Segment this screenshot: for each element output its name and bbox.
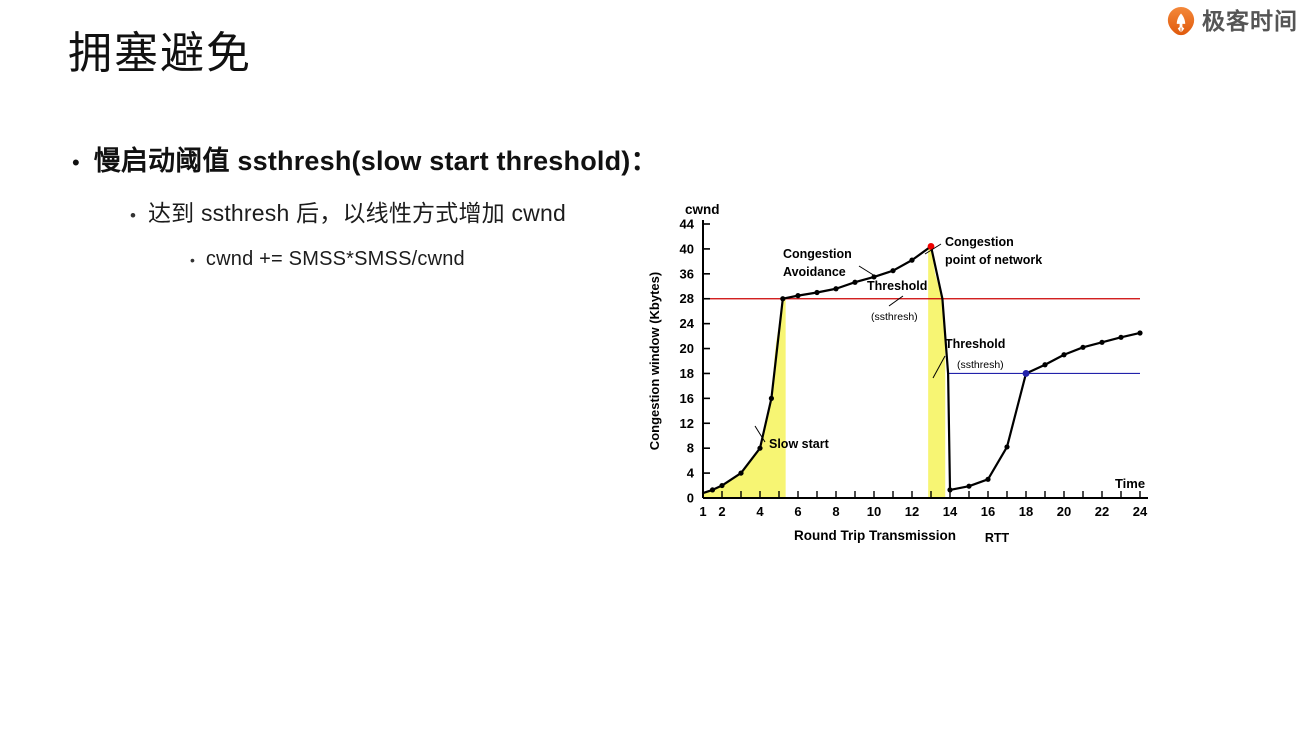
bullet-text: cwnd += SMSS*SMSS/cwnd bbox=[206, 248, 465, 271]
y-tick-label: 4 bbox=[687, 466, 695, 481]
data-point bbox=[814, 290, 819, 295]
x-tick-label: 4 bbox=[756, 504, 764, 519]
data-point bbox=[719, 483, 724, 488]
data-point bbox=[1080, 345, 1085, 350]
x-tick-label: 18 bbox=[1019, 504, 1033, 519]
x-tick-label: 6 bbox=[794, 504, 801, 519]
bullet-text: 慢启动阈值 ssthresh(slow start threshold)： bbox=[94, 139, 658, 178]
x-tick-label: 8 bbox=[832, 504, 839, 519]
y-tick-label: 8 bbox=[687, 441, 694, 456]
y-tick-label: 18 bbox=[680, 366, 694, 381]
y-tick-label: 24 bbox=[680, 316, 695, 331]
bullet-level-1: • 慢启动阈值 ssthresh(slow start threshold)： bbox=[72, 139, 658, 178]
y-tick-label: 12 bbox=[680, 416, 694, 431]
data-point bbox=[1137, 330, 1142, 335]
y-tick-label: 0 bbox=[687, 491, 694, 506]
data-point bbox=[909, 258, 914, 263]
data-point bbox=[852, 280, 857, 285]
y-tick-label: 44 bbox=[680, 217, 695, 232]
x-tick-label: 10 bbox=[867, 504, 881, 519]
x-tick-label: 1 bbox=[699, 504, 706, 519]
data-point bbox=[769, 396, 774, 401]
annotation-threshold-1-sub: (ssthresh) bbox=[871, 311, 918, 323]
data-point bbox=[780, 296, 785, 301]
annotation-threshold-2: Threshold bbox=[945, 337, 1005, 351]
congestion-window-chart: 048121618202428364044 124681012141618202… bbox=[645, 196, 1157, 546]
y-tick-label: 36 bbox=[680, 266, 694, 281]
annotation-congestion-avoidance-line2: Avoidance bbox=[783, 265, 846, 279]
data-point bbox=[947, 487, 952, 492]
y-tick-label: 40 bbox=[680, 241, 694, 256]
data-point bbox=[985, 477, 990, 482]
data-point bbox=[1042, 362, 1047, 367]
data-point bbox=[710, 487, 715, 492]
data-point bbox=[1004, 444, 1009, 449]
annotation-congestion-point-line2: point of network bbox=[945, 253, 1042, 267]
x-tick-label: 14 bbox=[943, 504, 958, 519]
x-tick-label: 24 bbox=[1133, 504, 1148, 519]
annotation-threshold-1: Threshold bbox=[867, 279, 927, 293]
annotation-congestion-point-line1: Congestion bbox=[945, 235, 1014, 249]
page-title: 拥塞避免 bbox=[68, 28, 252, 81]
x-tick-label: 12 bbox=[905, 504, 919, 519]
bullet-text: 达到 ssthresh 后，以线性方式增加 cwnd bbox=[148, 194, 566, 228]
y-tick-label: 28 bbox=[680, 291, 694, 306]
geektime-rocket-icon bbox=[1166, 6, 1196, 36]
data-point bbox=[833, 286, 838, 291]
x-axis-label: Round Trip Transmission bbox=[794, 528, 956, 543]
chart-corner-label: cwnd bbox=[685, 202, 720, 217]
x-tick-label: 20 bbox=[1057, 504, 1071, 519]
data-point bbox=[1118, 335, 1123, 340]
bullet-marker: • bbox=[190, 253, 195, 267]
data-point bbox=[966, 484, 971, 489]
data-point bbox=[890, 268, 895, 273]
brand-logo: 极客时间 bbox=[1166, 6, 1298, 36]
annotation-congestion-avoidance-line1: Congestion bbox=[783, 247, 852, 261]
bullet-level-2: • 达到 ssthresh 后，以线性方式增加 cwnd bbox=[130, 194, 566, 228]
data-point bbox=[1099, 340, 1104, 345]
data-point bbox=[757, 446, 762, 451]
data-point bbox=[795, 293, 800, 298]
x-tick-label: 2 bbox=[718, 504, 725, 519]
annotation-slow-start: Slow start bbox=[769, 437, 830, 451]
annotation-threshold-2-sub: (ssthresh) bbox=[957, 359, 1004, 371]
bullet-level-3: • cwnd += SMSS*SMSS/cwnd bbox=[190, 248, 465, 271]
y-axis-label: Congestion window (Kbytes) bbox=[647, 272, 662, 450]
highlight-point-recovery-threshold-point bbox=[1023, 370, 1030, 377]
y-tick-label: 16 bbox=[680, 391, 694, 406]
bullet-marker: • bbox=[72, 152, 80, 174]
bullet-marker: • bbox=[130, 207, 136, 224]
data-point bbox=[738, 470, 743, 475]
x-tick-label: 22 bbox=[1095, 504, 1109, 519]
x-axis-label-suffix: RTT bbox=[985, 531, 1010, 545]
x-tick-label: 16 bbox=[981, 504, 995, 519]
brand-name: 极客时间 bbox=[1202, 10, 1298, 33]
data-point bbox=[1061, 352, 1066, 357]
y-tick-label: 20 bbox=[680, 341, 694, 356]
time-axis-label: Time bbox=[1115, 476, 1145, 491]
chart-canvas: 048121618202428364044 124681012141618202… bbox=[645, 196, 1157, 546]
